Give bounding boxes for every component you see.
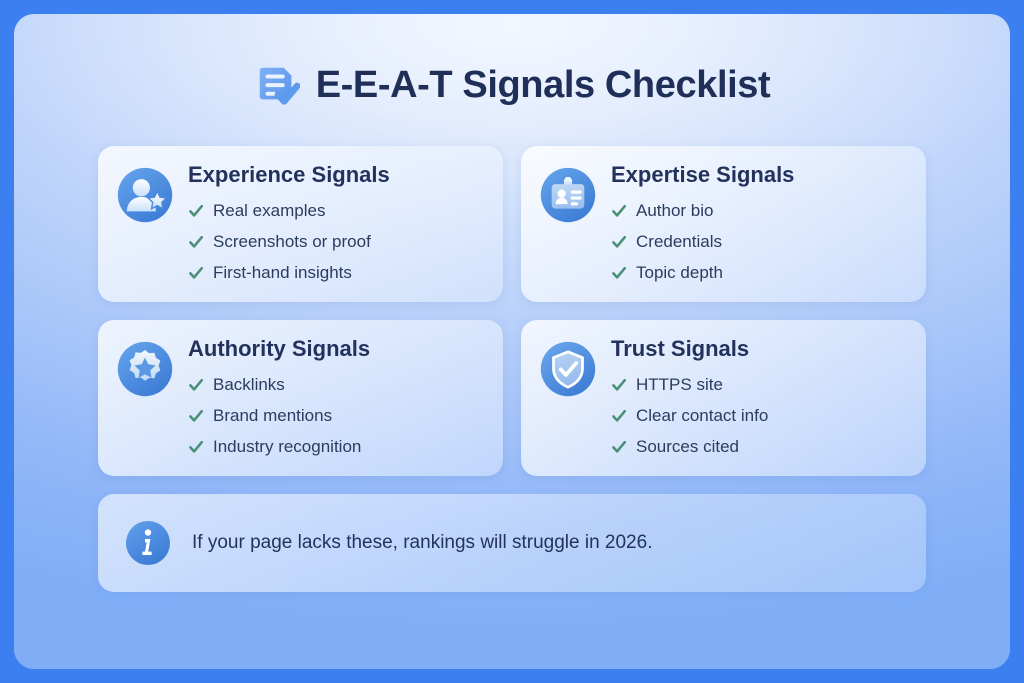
card-expertise-signals[interactable]: Expertise Signals Author bio Credentials <box>521 146 926 302</box>
info-circle-icon <box>124 519 172 567</box>
card-body: Authority Signals Backlinks Brand mentio… <box>188 336 485 462</box>
list-item: HTTPS site <box>611 369 908 400</box>
card-title: Trust Signals <box>611 337 908 361</box>
card-title: Experience Signals <box>188 163 485 187</box>
list-item: Author bio <box>611 195 908 226</box>
list-item-label: Credentials <box>636 233 722 250</box>
list-item-label: Brand mentions <box>213 407 332 424</box>
infographic-content: E-E-A-T Signals Checklist <box>14 14 1010 669</box>
document-check-icon <box>254 63 300 109</box>
list-item-label: Author bio <box>636 202 714 219</box>
signal-card-grid: Experience Signals Real examples Screens… <box>98 146 926 476</box>
card-body: Trust Signals HTTPS site Clear contact i… <box>611 336 908 462</box>
check-icon <box>188 234 204 250</box>
check-icon <box>188 408 204 424</box>
list-item-label: HTTPS site <box>636 376 723 393</box>
list-item: Sources cited <box>611 431 908 462</box>
note-text: If your page lacks these, rankings will … <box>192 532 652 554</box>
shield-check-icon <box>539 340 597 398</box>
card-body: Expertise Signals Author bio Credentials <box>611 162 908 288</box>
check-icon <box>611 203 627 219</box>
list-item-label: First-hand insights <box>213 264 352 281</box>
card-checklist: Real examples Screenshots or proof First… <box>188 195 485 288</box>
list-item: Screenshots or proof <box>188 226 485 257</box>
card-title: Expertise Signals <box>611 163 908 187</box>
card-checklist: Backlinks Brand mentions Industry recogn… <box>188 369 485 462</box>
check-icon <box>611 408 627 424</box>
card-experience-signals[interactable]: Experience Signals Real examples Screens… <box>98 146 503 302</box>
list-item: First-hand insights <box>188 257 485 288</box>
list-item-label: Topic depth <box>636 264 723 281</box>
card-title: Authority Signals <box>188 337 485 361</box>
check-icon <box>611 439 627 455</box>
check-icon <box>188 203 204 219</box>
list-item: Industry recognition <box>188 431 485 462</box>
infographic-canvas: E-E-A-T Signals Checklist <box>14 14 1010 669</box>
list-item-label: Clear contact info <box>636 407 768 424</box>
list-item: Backlinks <box>188 369 485 400</box>
list-item-label: Screenshots or proof <box>213 233 371 250</box>
card-authority-signals[interactable]: Authority Signals Backlinks Brand mentio… <box>98 320 503 476</box>
page-title: E-E-A-T Signals Checklist <box>316 64 771 107</box>
note-banner: If your page lacks these, rankings will … <box>98 494 926 592</box>
list-item-label: Industry recognition <box>213 438 361 455</box>
list-item: Clear contact info <box>611 400 908 431</box>
card-body: Experience Signals Real examples Screens… <box>188 162 485 288</box>
list-item-label: Real examples <box>213 202 325 219</box>
list-item: Topic depth <box>611 257 908 288</box>
check-icon <box>188 439 204 455</box>
list-item-label: Backlinks <box>213 376 285 393</box>
check-icon <box>188 377 204 393</box>
card-checklist: HTTPS site Clear contact info Sources ci… <box>611 369 908 462</box>
list-item: Real examples <box>188 195 485 226</box>
check-icon <box>611 377 627 393</box>
card-checklist: Author bio Credentials Topic depth <box>611 195 908 288</box>
id-badge-icon <box>539 166 597 224</box>
check-icon <box>611 234 627 250</box>
infographic-frame: E-E-A-T Signals Checklist <box>8 8 1016 675</box>
list-item: Brand mentions <box>188 400 485 431</box>
list-item: Credentials <box>611 226 908 257</box>
check-icon <box>188 265 204 281</box>
card-trust-signals[interactable]: Trust Signals HTTPS site Clear contact i… <box>521 320 926 476</box>
page-title-row: E-E-A-T Signals Checklist <box>98 48 926 122</box>
person-star-icon <box>116 166 174 224</box>
award-badge-star-icon <box>116 340 174 398</box>
check-icon <box>611 265 627 281</box>
list-item-label: Sources cited <box>636 438 739 455</box>
